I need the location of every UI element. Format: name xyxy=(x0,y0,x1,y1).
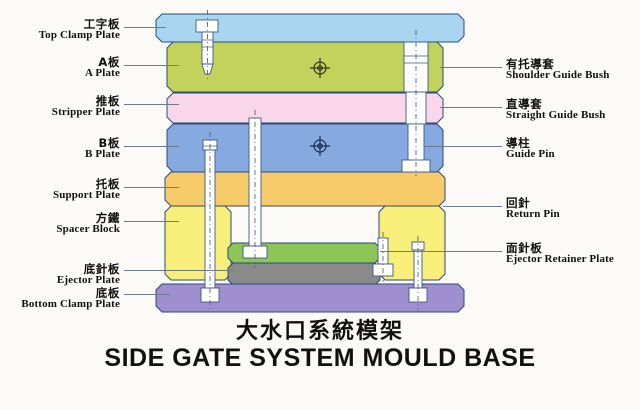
label-support-plate: 托板 Support Plate xyxy=(0,178,120,202)
leader-ejector-plate xyxy=(124,270,234,271)
leader-bottom-clamp-plate xyxy=(124,294,170,295)
label-stripper-plate: 推板 Stripper Plate xyxy=(0,95,120,119)
label-bottom-clamp-plate: 底板 Bottom Clamp Plate xyxy=(0,287,120,311)
leader-straight-guide-bush xyxy=(440,107,502,108)
diagram-canvas: .o { stroke:#2a4a78; stroke-width:1; } .… xyxy=(0,0,640,410)
leader-ejector-retainer-plate xyxy=(380,251,502,252)
spacer-block-left xyxy=(165,206,231,280)
label-en: Spacer Block xyxy=(0,224,120,236)
plate-ejector xyxy=(228,263,380,285)
leader-a-plate xyxy=(124,65,179,66)
leader-shoulder-guide-bush xyxy=(440,67,502,68)
label-en: Stripper Plate xyxy=(0,107,120,119)
leader-spacer-block xyxy=(124,221,179,222)
label-shoulder-guide-bush: 有托導套 Shoulder Guide Bush xyxy=(506,58,640,82)
label-en: Ejector Retainer Plate xyxy=(506,254,640,266)
label-en: Top Clamp Plate xyxy=(0,30,120,42)
straight-guide-bush xyxy=(406,92,426,124)
label-en: Guide Pin xyxy=(506,149,640,161)
label-en: Support Plate xyxy=(0,190,120,202)
label-en: A Plate xyxy=(0,68,120,80)
leader-support-plate xyxy=(124,187,179,188)
label-top-clamp-plate: 工字板 Top Clamp Plate xyxy=(0,18,120,42)
leader-guide-pin xyxy=(424,146,502,147)
leader-b-plate xyxy=(124,146,179,147)
label-en: B Plate xyxy=(0,149,120,161)
plate-stripper xyxy=(167,93,443,123)
label-en: Shoulder Guide Bush xyxy=(506,70,640,82)
leader-return-pin xyxy=(443,206,502,207)
label-spacer-block: 方鐵 Spacer Block xyxy=(0,212,120,236)
title-english: SIDE GATE SYSTEM MOULD BASE xyxy=(0,344,640,373)
label-b-plate: B板 B Plate xyxy=(0,137,120,161)
label-ejector-retainer-plate: 面針板 Ejector Retainer Plate xyxy=(506,242,640,266)
label-straight-guide-bush: 直導套 Straight Guide Bush xyxy=(506,98,640,122)
title-chinese: 大水口系統模架 xyxy=(0,313,640,345)
label-en: Return Pin xyxy=(506,209,640,221)
label-en: Bottom Clamp Plate xyxy=(0,299,120,311)
leader-stripper-plate xyxy=(124,104,179,105)
label-a-plate: A板 A Plate xyxy=(0,56,120,80)
label-guide-pin: 導柱 Guide Pin xyxy=(506,137,640,161)
label-en: Straight Guide Bush xyxy=(506,110,640,122)
leader-top-clamp-plate xyxy=(124,27,166,28)
label-return-pin: 回針 Return Pin xyxy=(506,197,640,221)
label-ejector-plate: 底針板 Ejector Plate xyxy=(0,263,120,287)
